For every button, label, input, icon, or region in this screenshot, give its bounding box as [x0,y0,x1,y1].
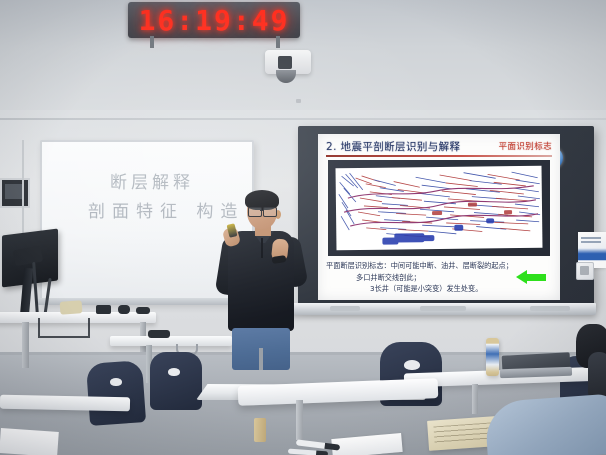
slide-title-divider [326,155,552,157]
slide-body-text: 平面断层识别标志：中间可能中断、油井、层断裂的起点； 多口井断交线剖此； 3长井… [326,260,554,295]
table-leg [296,400,303,440]
desk-object [148,330,170,338]
fault-trace-map-figure [336,166,543,251]
chair [150,352,202,410]
water-bottle [486,338,499,376]
poster-line [581,241,601,243]
clock-time: 16:19:49 [128,2,300,38]
glasses-bridge-icon [260,210,263,211]
poster-line [581,237,601,239]
desk-object [60,300,83,315]
side-desk [110,336,232,346]
slide-body-line-2: 多口井断交线剖此； [326,272,554,284]
digital-clock: 16:19:49 [128,2,300,38]
bezel-mark [420,306,466,311]
presentation-slide: 2. 地震平剖断层识别与解释 平面识别标志 [318,134,560,300]
clock-bracket-right [276,36,280,48]
slide-title: 2. 地震平剖断层识别与解释 [326,139,460,154]
desk-object [96,305,111,314]
classroom-scene: 16:19:49 断层解释 剖面特征 构造 2. 地震平剖断层识别与解释 平面识… [0,0,606,455]
desk-leg [22,322,29,368]
jeans-leg-gap [259,348,263,370]
slide-subtitle: 平面识别标志 [499,140,552,152]
whiteboard-text-line2: 剖面特征 构造 [88,197,244,222]
ceiling-fixture [296,99,301,103]
glasses-right-lens-icon [263,207,277,217]
display-bottom-bezel [290,303,596,315]
bezel-mark [330,306,360,311]
slide-figure-panel [328,160,550,256]
chair-handle-cutout [168,368,180,376]
wall-control-box[interactable] [0,178,30,208]
cup [254,418,266,442]
slide-body-line-3: 3长井（可能是小突变）发生处变。 [326,283,554,295]
fault-map-svg [336,166,543,251]
cable-basket [38,318,90,338]
student-table-left [0,395,130,412]
light-switch[interactable] [576,262,594,280]
switch-button[interactable] [580,266,589,275]
wall-control-panel [5,184,23,199]
slide-body-line-1: 平面断层识别标志：中间可能中断、油井、层断裂的起点； [326,260,554,272]
desk-object [118,305,130,314]
table-leg [472,384,478,414]
clock-bracket-left [150,36,154,48]
chair-handle-cutout [404,360,420,370]
whiteboard-text-line1: 断层解释 [110,168,194,193]
presenter-placket [261,238,263,258]
bezel-mark [530,306,570,311]
chair-handle-cutout [110,378,122,386]
loose-paper [0,428,59,455]
camera-lens-icon [278,56,292,69]
chair [86,360,146,426]
desk-object [136,307,150,314]
wall-seam [0,118,606,120]
glasses-left-lens-icon [248,207,262,217]
